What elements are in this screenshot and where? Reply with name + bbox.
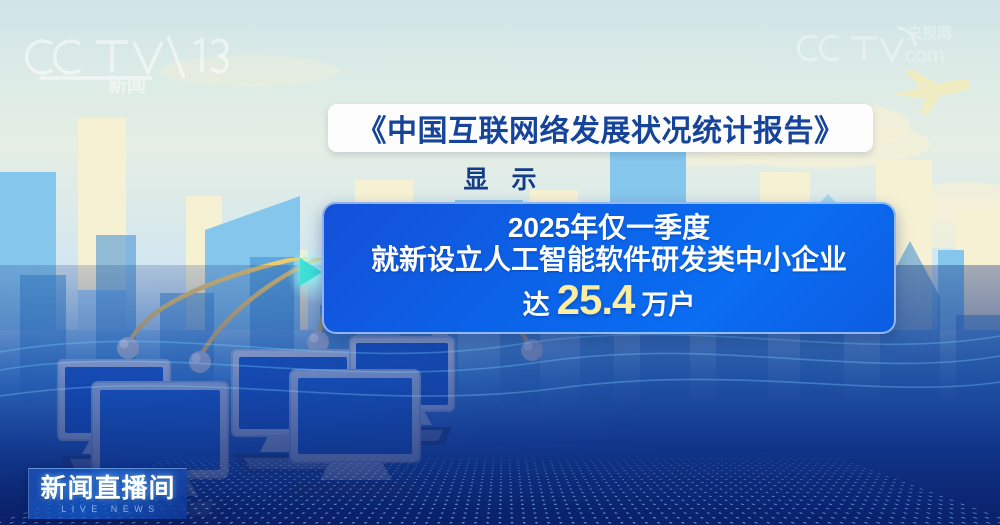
callout-highlight-value: 25.4 [557,277,635,323]
triangle-right-icon [300,258,322,286]
broadcast-screenshot: 新闻 央视网 com 《中国互联网络发展状况统计报告》 显 示 2025年仅一季… [0,0,1000,525]
program-name-cn: 新闻直播间 [40,475,175,501]
cctv-com-watermark: 央视网 com [797,16,982,68]
cctv13-sub-label: 新闻 [108,74,146,94]
cctv-com-cn-label: 央视网 [907,24,952,42]
program-name-en: LIVE NEWS [56,504,160,514]
callout-line-3: 达 25.4 万户 [523,277,696,323]
report-title: 《中国互联网络发展状况统计报告》 [328,104,873,152]
program-bug: 新闻直播间 LIVE NEWS [28,468,187,519]
cctv-com-domain: com [905,44,945,67]
callout-content: 2025年仅一季度 就新设立人工智能软件研发类中小企业 达 25.4 万户 [322,202,896,334]
callout-prefix: 达 [523,291,550,321]
callout-suffix: 万户 [641,291,695,321]
cctv13-channel-logo: 新闻 [22,22,232,94]
callout-line-2: 就新设立人工智能软件研发类中小企业 [371,245,847,276]
headline-subtitle: 显 示 [0,160,1000,196]
callout-line-1: 2025年仅一季度 [508,213,710,244]
